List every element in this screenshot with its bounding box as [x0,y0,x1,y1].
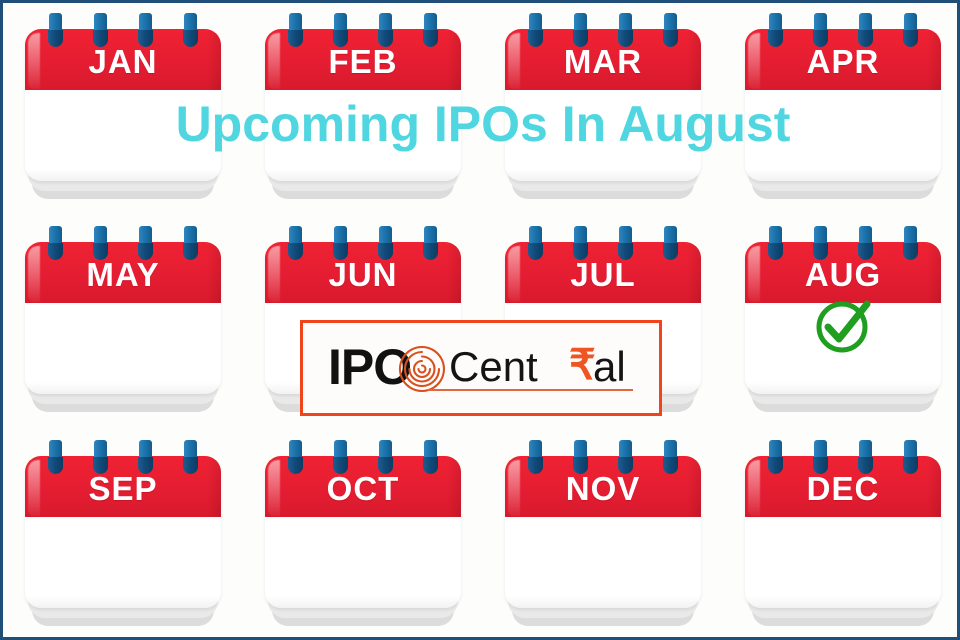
calendar-cell-oct[interactable]: OCT [243,430,483,640]
body-shade [745,596,941,608]
page-title: Upcoming IPOs In August [3,99,960,149]
body-shade [265,596,461,608]
calendar-month-label: MAY [25,258,221,291]
body-shade [745,382,941,394]
calendar-body [745,517,941,608]
body-shade [25,596,221,608]
logo-underline [428,389,633,391]
body-shade [505,596,701,608]
calendar-cell-sep[interactable]: SEP [3,430,243,640]
calendar-cell-dec[interactable]: DEC [723,430,960,640]
ipo-central-logo[interactable]: IPO Cent ₹ al [300,320,662,416]
calendar-body [25,303,221,394]
calendar-sheet: MAY [25,242,221,394]
body-shade [745,169,941,181]
calendar-month-label: SEP [25,472,221,505]
calendar-month-label: JAN [25,45,221,78]
body-shade [25,169,221,181]
calendar-month-label: JUL [505,258,701,291]
calendar-month-label: APR [745,45,941,78]
calendar-cell-nov[interactable]: NOV [483,430,723,640]
calendar-sheet: NOV [505,456,701,608]
calendar-cell-aug[interactable]: AUG [723,216,960,429]
calendar-dec[interactable]: DEC [743,438,943,628]
calendar-sheet: OCT [265,456,461,608]
logo-inner: IPO Cent ₹ al [316,338,646,398]
calendar-month-label: OCT [265,472,461,505]
calendar-sheet: DEC [745,456,941,608]
calendar-body [265,517,461,608]
calendar-month-label: JUN [265,258,461,291]
body-shade [265,169,461,181]
poster-canvas: JAN [0,0,960,640]
green-check-circle-icon [811,294,875,358]
calendar-month-label: MAR [505,45,701,78]
body-shade [505,169,701,181]
calendar-body [505,517,701,608]
calendar-month-label: AUG [745,258,941,291]
calendar-nov[interactable]: NOV [503,438,703,628]
calendar-sep[interactable]: SEP [23,438,223,628]
body-shade [25,382,221,394]
logo-text-central-part2: al [593,346,626,388]
calendar-month-label: FEB [265,45,461,78]
calendar-cell-may[interactable]: MAY [3,216,243,429]
rupee-icon: ₹ [569,344,596,386]
logo-text-central-part1: Cent [449,346,538,388]
calendar-month-label: NOV [505,472,701,505]
calendar-sheet: SEP [25,456,221,608]
calendar-may[interactable]: MAY [23,224,223,414]
calendar-body [25,517,221,608]
calendar-aug[interactable]: AUG [743,224,943,414]
calendar-oct[interactable]: OCT [263,438,463,628]
spiral-o-icon [396,343,448,395]
calendar-month-label: DEC [745,472,941,505]
